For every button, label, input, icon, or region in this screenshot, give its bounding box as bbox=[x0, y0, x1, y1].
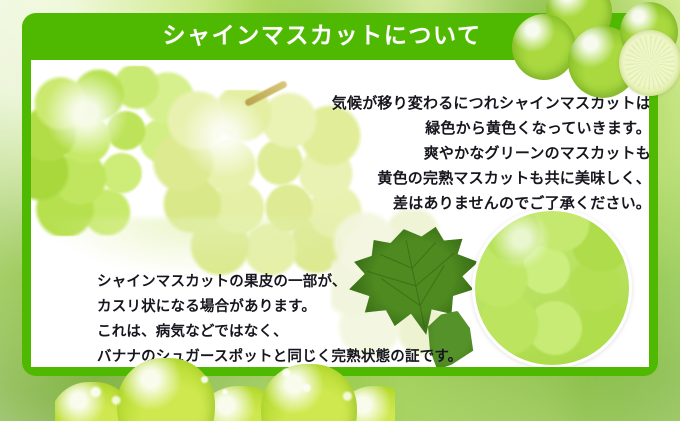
top-right-grapes-image bbox=[516, 0, 680, 112]
lower-text-line: これは、病気などではなく、 bbox=[97, 320, 497, 345]
upper-text-line: 爽やかなグリーンのマスカットも bbox=[281, 141, 649, 166]
bottom-grapes-image bbox=[55, 352, 395, 421]
lower-text-line: カスリ状になる場合があります。 bbox=[97, 295, 497, 320]
promo-banner: シャインマスカットについて bbox=[0, 0, 680, 421]
water-droplets bbox=[55, 352, 395, 421]
upper-text-line: 緑色から黄色くなっていきます。 bbox=[281, 116, 649, 141]
page-title: シャインマスカットについて bbox=[162, 25, 481, 48]
grape-berry bbox=[512, 14, 576, 80]
lower-text-line: シャインマスカットの果皮の一部が、 bbox=[97, 270, 497, 295]
grape-reflection bbox=[41, 218, 371, 278]
upper-text-line: 黄色の完熟マスカットも共に美味しく、 bbox=[281, 166, 649, 191]
upper-text-line: 差はありませんのでご了承ください。 bbox=[281, 191, 649, 216]
halved-grape-berry bbox=[619, 30, 680, 96]
